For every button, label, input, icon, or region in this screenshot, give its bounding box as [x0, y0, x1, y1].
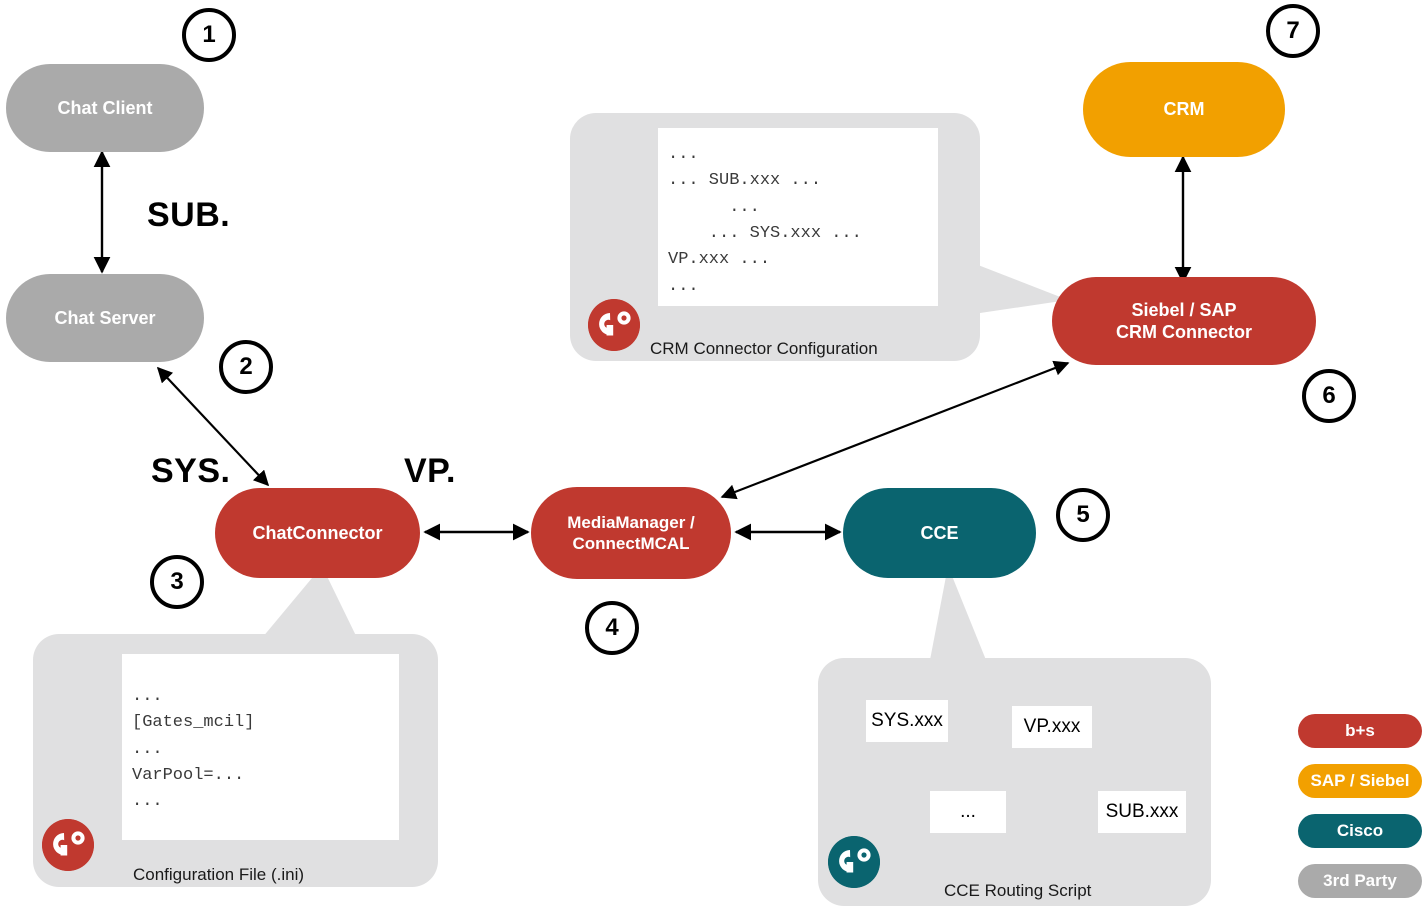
node-label: ChatConnector	[253, 522, 383, 545]
cce-routing-script-caption: CCE Routing Script	[944, 881, 1091, 901]
legend-item-bs: b+s	[1298, 714, 1422, 748]
node-cce[interactable]: CCE	[843, 488, 1036, 578]
node-label: Chat Client	[57, 97, 152, 120]
step-marker-6: 6	[1302, 369, 1356, 423]
legend-item-label: SAP / Siebel	[1311, 771, 1410, 791]
diagram-canvas: ... ... SUB.xxx ... ... ... SYS.xxx ... …	[0, 0, 1428, 913]
step-marker-7: 7	[1266, 4, 1320, 58]
routing-script-node-label: VP.xxx	[1024, 716, 1081, 738]
legend-item-3rd-party: 3rd Party	[1298, 864, 1422, 898]
step-marker-4: 4	[585, 601, 639, 655]
step-marker-1: 1	[182, 8, 236, 62]
step-marker-label: 3	[170, 568, 183, 596]
node-crm[interactable]: CRM	[1083, 62, 1285, 157]
routing-script-node-sub: SUB.xxx	[1098, 791, 1186, 833]
crm-connector-configuration-code-panel: ... ... SUB.xxx ... ... ... SYS.xxx ... …	[658, 128, 938, 306]
configuration-file-code: ... [Gates_mcil] ... VarPool=... ...	[122, 654, 399, 816]
node-label: MediaManager / ConnectMCAL	[567, 512, 695, 555]
bs-gear-logo-icon	[42, 819, 94, 871]
legend-item-label: b+s	[1345, 721, 1375, 741]
legend-item-sap-siebel: SAP / Siebel	[1298, 764, 1422, 798]
callout-tail-cce-routing-script	[930, 566, 1050, 666]
node-label: Chat Server	[54, 307, 155, 330]
routing-script-node-label: SUB.xxx	[1106, 801, 1179, 823]
crm-connector-configuration-caption: CRM Connector Configuration	[650, 339, 878, 359]
cisco-gear-logo-icon	[828, 836, 880, 888]
node-siebel-sap-crm-connector[interactable]: Siebel / SAP CRM Connector	[1052, 277, 1316, 365]
routing-script-node-sys: SYS.xxx	[866, 700, 948, 742]
legend-item-label: 3rd Party	[1323, 871, 1397, 891]
routing-script-node-label: ...	[960, 801, 976, 823]
node-chat-client[interactable]: Chat Client	[6, 64, 204, 152]
flow-label-vp: VP.	[404, 452, 456, 491]
node-chatconnector[interactable]: ChatConnector	[215, 488, 420, 578]
step-marker-2: 2	[219, 340, 273, 394]
step-marker-label: 1	[202, 21, 215, 49]
routing-script-node-dots: ...	[930, 791, 1006, 833]
edge-mediamanager-crmconnector	[722, 363, 1068, 497]
node-label: Siebel / SAP CRM Connector	[1116, 299, 1252, 344]
legend-item-cisco: Cisco	[1298, 814, 1422, 848]
flow-label-sys: SYS.	[151, 452, 230, 491]
crm-connector-configuration-code: ... ... SUB.xxx ... ... ... SYS.xxx ... …	[658, 128, 938, 300]
configuration-file-code-panel: ... [Gates_mcil] ... VarPool=... ...	[122, 654, 399, 840]
step-marker-3: 3	[150, 555, 204, 609]
bs-gear-logo-icon	[588, 299, 640, 351]
routing-script-node-vp: VP.xxx	[1012, 706, 1092, 748]
node-label: CCE	[920, 522, 958, 545]
legend-item-label: Cisco	[1337, 821, 1383, 841]
node-label: CRM	[1164, 98, 1205, 121]
step-marker-5: 5	[1056, 488, 1110, 542]
step-marker-label: 2	[239, 353, 252, 381]
legend: b+s SAP / Siebel Cisco 3rd Party	[1298, 714, 1422, 913]
configuration-file-caption: Configuration File (.ini)	[133, 865, 304, 885]
step-marker-label: 7	[1286, 17, 1299, 45]
step-marker-label: 5	[1076, 501, 1089, 529]
step-marker-label: 4	[605, 614, 618, 642]
routing-script-node-label: SYS.xxx	[871, 710, 943, 732]
step-marker-label: 6	[1322, 382, 1335, 410]
node-mediamanager-connectmcal[interactable]: MediaManager / ConnectMCAL	[531, 487, 731, 579]
flow-label-sub: SUB.	[147, 196, 230, 235]
node-chat-server[interactable]: Chat Server	[6, 274, 204, 362]
